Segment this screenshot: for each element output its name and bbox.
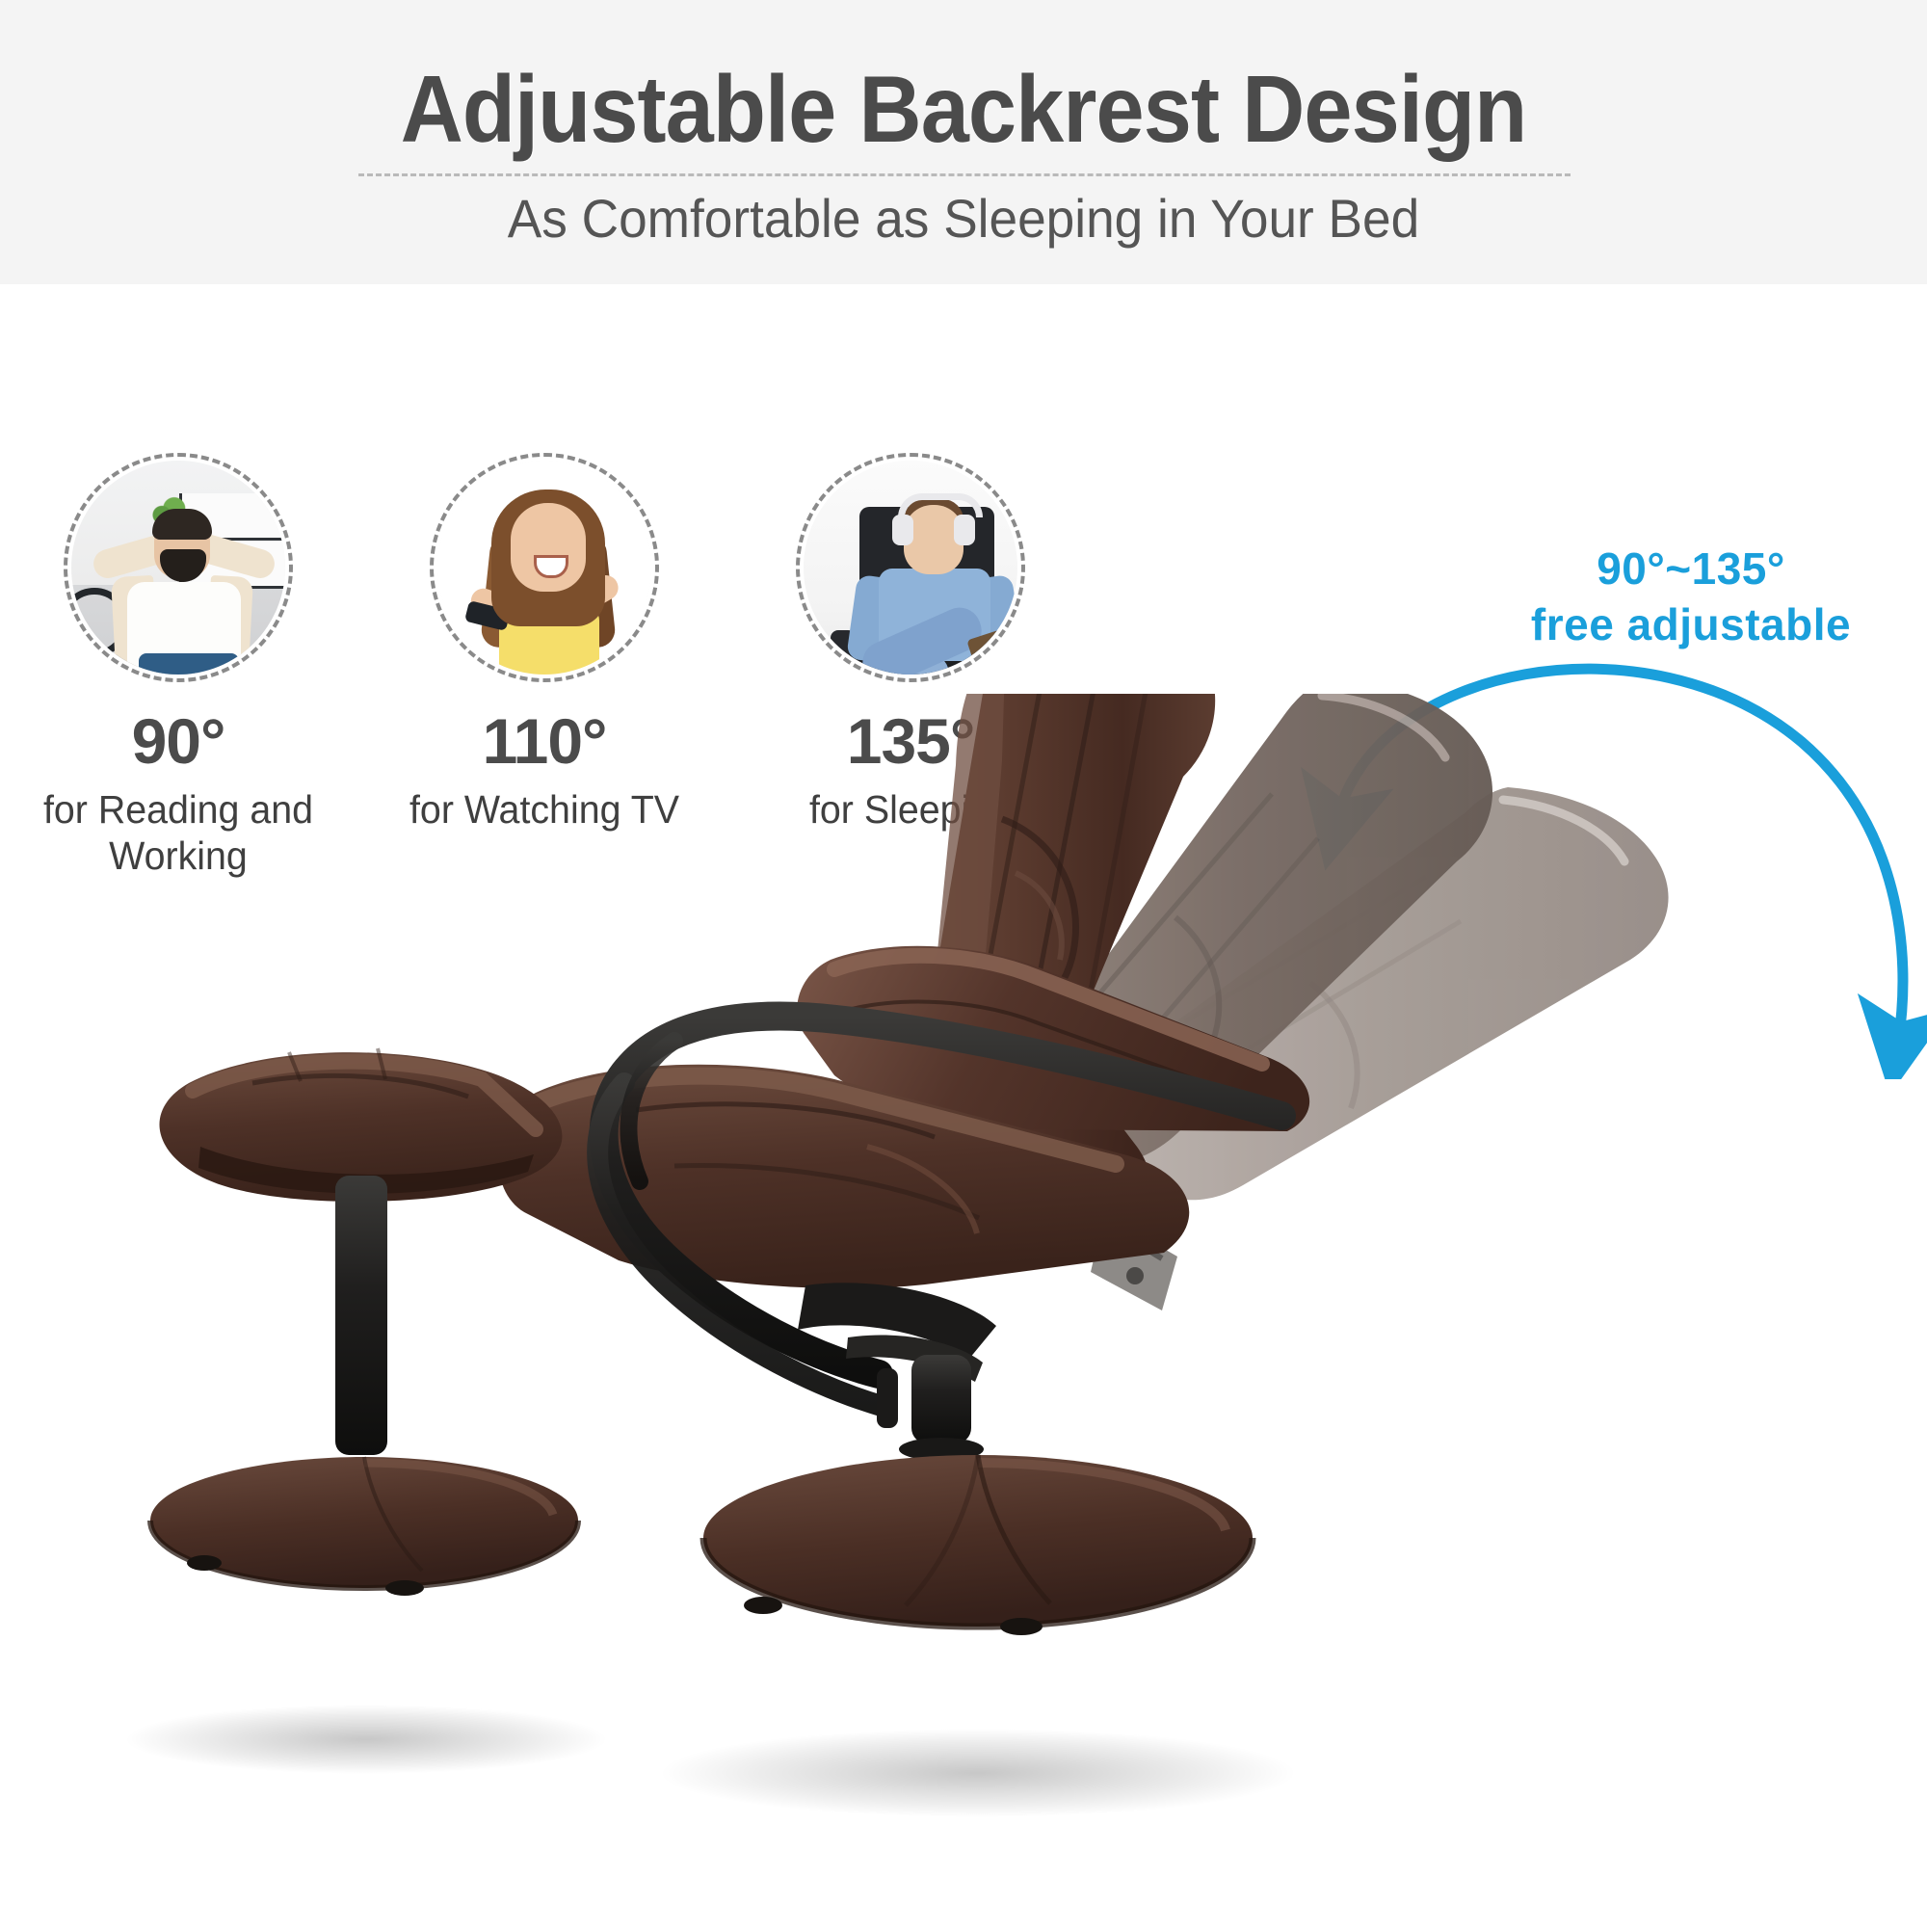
- photo-man-office-stretching: [71, 461, 285, 675]
- header-band: Adjustable Backrest Design As Comfortabl…: [0, 0, 1927, 284]
- badge-circle-110: [430, 453, 659, 682]
- chair-swivel-base: [703, 1355, 1253, 1635]
- infographic-canvas: Adjustable Backrest Design As Comfortabl…: [0, 0, 1927, 1927]
- title-divider: [358, 173, 1571, 176]
- ottoman: [150, 1048, 578, 1596]
- badge-circle-135: [796, 453, 1025, 682]
- page-title: Adjustable Backrest Design: [77, 60, 1850, 159]
- badge-circle-90: [64, 453, 293, 682]
- photo-man-sleeping-headphones: [804, 461, 1017, 675]
- photo-woman-watching-tv: [437, 461, 651, 675]
- adjust-range-value: 90°~135°: [1474, 542, 1908, 597]
- page-subtitle: As Comfortable as Sleeping in Your Bed: [48, 189, 1879, 249]
- product-illustration: [0, 694, 1927, 1927]
